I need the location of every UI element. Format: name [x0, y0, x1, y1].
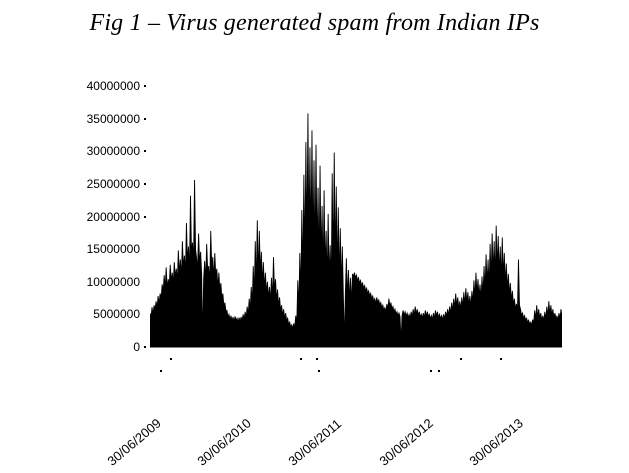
axis-tick-mark — [144, 118, 146, 120]
x-tick-label: 30/06/2013 — [467, 416, 525, 468]
axis-tick-mark — [160, 370, 162, 372]
axis-tick-mark — [144, 85, 146, 87]
axis-tick-mark — [430, 370, 432, 372]
x-tick-label: 30/06/2009 — [105, 416, 163, 468]
figure-root: Fig 1 – Virus generated spam from Indian… — [0, 0, 629, 473]
x-tick-label: 30/06/2011 — [286, 417, 343, 468]
y-tick-label: 40000000 — [40, 80, 140, 92]
y-tick-label: 20000000 — [40, 211, 140, 223]
x-tick-label: 30/06/2010 — [195, 416, 253, 468]
y-tick-label: 25000000 — [40, 178, 140, 190]
chart-canvas: 0500000010000000150000002000000025000000… — [0, 62, 629, 473]
axis-tick-mark — [170, 358, 172, 360]
axis-tick-mark — [300, 358, 302, 360]
x-axis: 30/06/200930/06/201030/06/201130/06/2012… — [0, 348, 629, 473]
axis-tick-mark — [438, 370, 440, 372]
y-tick-label: 15000000 — [40, 243, 140, 255]
axis-tick-mark — [144, 183, 146, 185]
axis-tick-mark — [144, 150, 146, 152]
axis-tick-mark — [460, 358, 462, 360]
axis-tick-mark — [316, 358, 318, 360]
x-tick-label: 30/06/2012 — [377, 416, 435, 468]
y-tick-label: 5000000 — [40, 308, 140, 320]
axis-tick-mark — [144, 216, 146, 218]
axis-tick-mark — [318, 370, 320, 372]
y-tick-label: 10000000 — [40, 276, 140, 288]
axis-tick-mark — [500, 358, 502, 360]
series-path — [150, 113, 562, 347]
y-tick-label: 30000000 — [40, 145, 140, 157]
page-title: Fig 1 – Virus generated spam from Indian… — [0, 8, 629, 38]
y-tick-label: 35000000 — [40, 113, 140, 125]
